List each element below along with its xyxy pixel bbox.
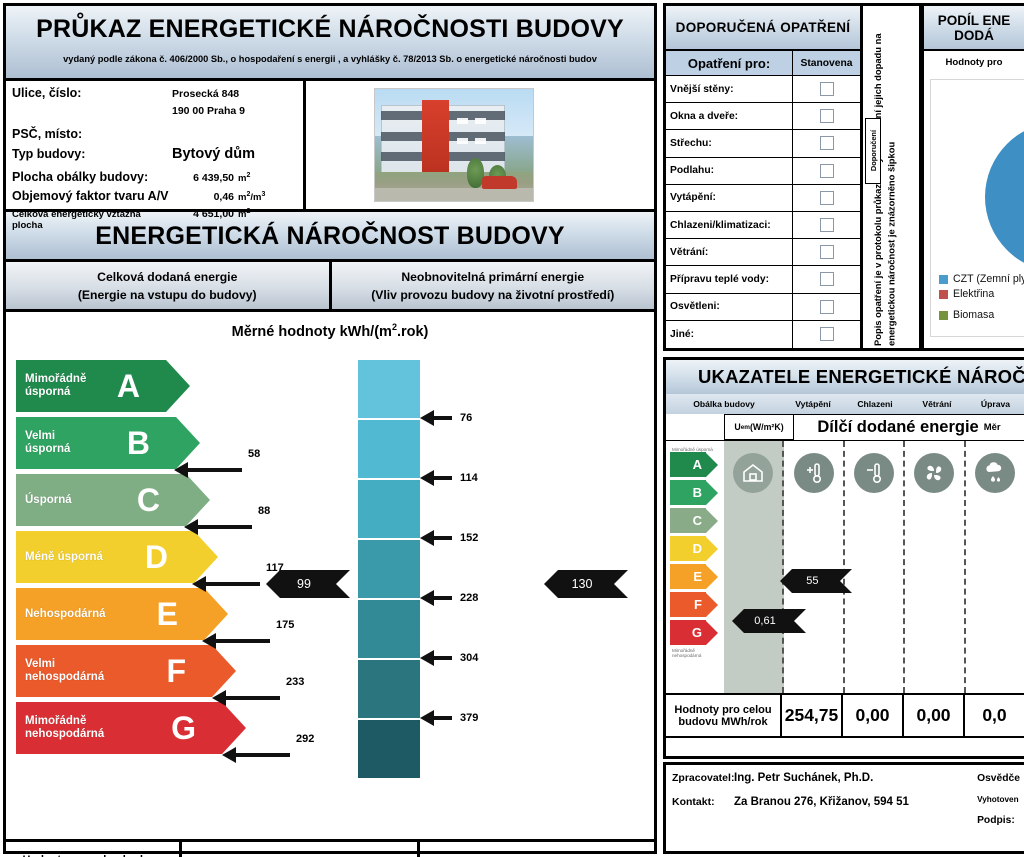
- primary-energy-value: 130: [572, 577, 593, 591]
- legend-item: Biomasa: [939, 308, 1024, 322]
- primary-energy-result-flag: 130: [544, 570, 628, 598]
- label-street: Ulice, číslo:: [12, 86, 172, 100]
- measure-label: Vytápění:: [666, 185, 793, 211]
- indicator-total-ventilation: 0,0: [965, 695, 1024, 736]
- mini-grade-g: G: [670, 620, 706, 645]
- class-grade-g: G: [171, 712, 196, 744]
- indicator-header-ventilation: Větrání: [906, 399, 968, 409]
- units-label-base: Měrné hodnoty kWh/(m: [232, 324, 392, 340]
- primary-energy-title: Neobnovitelná primární energie: [332, 270, 655, 284]
- delivered-energy-header: Celková dodaná energie (Energie na vstup…: [6, 262, 332, 309]
- threshold-tick: 76: [420, 410, 472, 426]
- thermometer-minus-icon: [854, 453, 894, 493]
- info-row-reference-area: Celková energeticky vztažná plocha 4 651…: [12, 208, 303, 227]
- threshold-value: 114: [460, 472, 478, 484]
- indicators-totals-label-line1: Hodnoty pro celou: [674, 704, 771, 716]
- mini-grade-a: A: [670, 452, 706, 477]
- indicator-total-envelope: 254,75: [782, 695, 843, 736]
- building-photo-cell: [306, 81, 654, 209]
- footer-processor-row: Zpracovatel: Ing. Petr Suchánek, Ph.D.: [666, 765, 1024, 784]
- gradient-segment: [358, 420, 420, 480]
- threshold-value: 228: [460, 592, 478, 604]
- mini-class-row: C: [670, 508, 720, 533]
- energy-class-bands: Mimořádněúsporná A Velmiúsporná B: [16, 360, 226, 759]
- humidity-icon: [975, 453, 1015, 493]
- contact-label: Kontakt:: [672, 796, 734, 808]
- unit-reference-area: m2: [238, 208, 250, 220]
- measure-label: Přípravu teplé vody:: [666, 266, 793, 292]
- indicator-column-ventilation: [905, 441, 965, 693]
- measures-header-row: Opatření pro: Stanovena: [666, 51, 860, 76]
- heating-energy-value: 55: [792, 569, 840, 593]
- mini-grade-e: E: [670, 564, 706, 589]
- share-chart-title: PODÍL ENE DODÁ: [924, 6, 1024, 51]
- mini-class-row: A: [670, 452, 720, 477]
- threshold-value: 152: [460, 532, 478, 544]
- energy-class-row: Nehospodárná E: [16, 588, 226, 640]
- partial-energies-header: Dílčí dodané energie Měr: [794, 414, 1024, 440]
- info-row-street: Ulice, číslo: Prosecká 848: [12, 86, 303, 105]
- primary-energy-ticks: 76 114 152 228: [420, 360, 550, 778]
- measure-label: Okna a dveře:: [666, 103, 793, 129]
- measure-checkbox-cell[interactable]: [793, 103, 860, 129]
- threshold-value: 292: [296, 733, 314, 745]
- mini-class-row: F: [670, 592, 720, 617]
- measure-label: Větrání:: [666, 239, 793, 265]
- threshold-value: 379: [460, 712, 478, 724]
- footer-contact-row: Kontakt: Za Branou 276, Křižanov, 594 51: [666, 784, 1024, 808]
- class-label-c: Úsporná: [25, 494, 72, 507]
- right-panel: DOPORUČENÁ OPATŘENÍ Opatření pro: Stanov…: [663, 0, 1024, 857]
- info-row-av-factor: Objemový faktor tvaru A/V 0,46 m2/m3: [12, 189, 303, 208]
- energy-indicators-panel: UKAZATELE ENERGETICKÉ NÁROČ Obálka budov…: [663, 357, 1024, 759]
- total-primary-energy: 605,632: [420, 842, 655, 857]
- label-reference-area: Celková energeticky vztažná plocha: [12, 209, 172, 231]
- measure-row: Vytápění:: [666, 185, 860, 212]
- units-label-tail: .rok): [397, 324, 428, 340]
- class-label-d: Méně úsporná: [25, 551, 103, 564]
- total-delivered-energy: 459,627: [182, 842, 420, 857]
- mini-scale-bottom-caption: Mimořádně nehospodárná: [670, 648, 720, 658]
- units-label: Měrné hodnoty kWh/(m2.rok): [6, 312, 654, 340]
- measure-label: Podlahu:: [666, 158, 793, 184]
- measure-checkbox[interactable]: [820, 164, 834, 178]
- measure-label: Osvětleni:: [666, 294, 793, 320]
- indicators-totals-label: Hodnoty pro celou budovu MWh/rok: [666, 695, 782, 736]
- measure-label: Střechu:: [666, 130, 793, 156]
- indicators-column-headers: Obálka budovy Vytápění Chlazeni Větrání …: [666, 394, 1024, 414]
- energy-class-row: Velminehospodárná F: [16, 645, 226, 697]
- delivered-energy-result-flag: 99: [266, 570, 350, 598]
- unit-av-factor: m2/m3: [238, 191, 265, 203]
- measure-label: Vnější stěny:: [666, 76, 793, 102]
- heating-value-flag: 55: [780, 569, 852, 593]
- measure-row: Střechu:: [666, 130, 860, 157]
- measure-checkbox-cell[interactable]: [793, 321, 860, 348]
- threshold-tick: 292: [222, 747, 290, 763]
- measure-row: Vnější stěny:: [666, 76, 860, 103]
- totals-label: Hodnoty pro celou budovu MWh/rok: [6, 842, 182, 857]
- signature-label: Podpis:: [977, 815, 1020, 826]
- measures-col-label: Opatření pro:: [666, 51, 793, 75]
- measure-checkbox[interactable]: [820, 136, 834, 150]
- unit-envelope-area: m2: [238, 172, 250, 184]
- threshold-tick: 233: [212, 690, 280, 706]
- delivered-energy-title: Celková dodaná energie: [6, 270, 329, 284]
- legend-swatch-biomasa: [939, 311, 948, 320]
- measure-row: Okna a dveře:: [666, 103, 860, 130]
- class-grade-b: B: [127, 427, 150, 459]
- info-row-postcode: PSČ, místo:: [12, 127, 303, 146]
- uem-sub: em: [741, 424, 750, 431]
- mini-class-row: B: [670, 480, 720, 505]
- uem-tail: (W/m²K): [750, 422, 784, 432]
- threshold-value: 304: [460, 652, 478, 664]
- threshold-tick: 304: [420, 650, 478, 666]
- recommendation-tag-label: Doporučení: [869, 130, 878, 171]
- indicator-column-heating: 55: [784, 441, 844, 693]
- measure-row: Jiné:: [666, 321, 860, 348]
- contact-value: Za Branou 276, Křižanov, 594 51: [734, 796, 909, 808]
- share-chart-title-line2: DODÁ: [954, 28, 994, 43]
- legend-swatch-czt: [939, 275, 948, 284]
- class-grade-c: C: [137, 484, 160, 516]
- recommendation-tag: Doporučení: [865, 118, 881, 184]
- measure-row: Větrání:: [666, 239, 860, 266]
- measure-checkbox[interactable]: [820, 191, 834, 205]
- class-label-g: Mimořádněnehospodárná: [25, 715, 104, 741]
- measure-checkbox[interactable]: [820, 109, 834, 123]
- indicators-totals-label-line2: budovu MWh/rok: [678, 716, 767, 728]
- gradient-segment: [358, 600, 420, 660]
- measures-title: DOPORUČENÁ OPATŘENÍ: [666, 6, 860, 51]
- measure-checkbox-cell[interactable]: [793, 185, 860, 211]
- measure-label: Chlazeni/klimatizaci:: [666, 212, 793, 238]
- gradient-segment: [358, 660, 420, 720]
- energy-scale-chart: Měrné hodnoty kWh/(m2.rok) Mimořádněúspo…: [6, 312, 654, 842]
- measure-checkbox-cell[interactable]: [793, 266, 860, 292]
- page-title: PRŮKAZ ENERGETICKÉ NÁROČNOSTI BUDOVY: [6, 6, 654, 48]
- measure-row: Přípravu teplé vody:: [666, 266, 860, 293]
- processor-label: Zpracovatel:: [672, 772, 734, 784]
- gradient-segment: [358, 540, 420, 600]
- value-reference-area: 4 651,00: [172, 208, 234, 220]
- energy-class-row: Mimořádněúsporná A: [16, 360, 226, 412]
- indicator-total-heating: 0,00: [843, 695, 904, 736]
- class-grade-d: D: [145, 541, 168, 573]
- measure-checkbox-cell[interactable]: [793, 239, 860, 265]
- info-row-city-value: 190 00 Praha 9: [12, 105, 303, 127]
- gradient-segment: [358, 720, 420, 778]
- indicator-header-envelope: Obálka budovy: [666, 399, 782, 409]
- share-chart-title-line1: PODÍL ENE: [938, 13, 1011, 28]
- energy-share-chart-panel: PODÍL ENE DODÁ Hodnoty pro CZT (Zemní pl…: [921, 3, 1024, 351]
- info-row-type: Typ budovy: Bytový dům: [12, 146, 303, 170]
- fan-icon: [914, 453, 954, 493]
- measure-row: Podlahu:: [666, 158, 860, 185]
- indicator-column-cooling: [845, 441, 905, 693]
- indicator-column-treatment: [966, 441, 1024, 693]
- threshold-value: 233: [286, 676, 304, 688]
- measure-checkbox[interactable]: [820, 300, 834, 314]
- delivered-energy-subtitle: (Energie na vstupu do budovy): [6, 288, 329, 302]
- legend-item: Elektřina: [939, 287, 1024, 301]
- indicator-header-cooling: Chlazeni: [844, 399, 906, 409]
- certificate-header: PRŮKAZ ENERGETICKÉ NÁROČNOSTI BUDOVY vyd…: [6, 6, 654, 81]
- share-chart-legend: CZT (Zemní plyn) Elektřina Biomasa: [939, 272, 1024, 323]
- measure-row: Osvětleni:: [666, 294, 860, 321]
- building-info-table: Ulice, číslo: Prosecká 848 190 00 Praha …: [6, 81, 654, 212]
- footer-right-column: Osvědče Vyhotoven Podpis:: [977, 773, 1020, 826]
- energy-certificate-page: PRŮKAZ ENERGETICKÉ NÁROČNOSTI BUDOVY vyd…: [0, 0, 1024, 857]
- label-building-type: Typ budovy:: [12, 147, 172, 161]
- class-grade-f: F: [166, 655, 186, 687]
- building-info-fields: Ulice, číslo: Prosecká 848 190 00 Praha …: [6, 81, 306, 209]
- mini-energy-scale: Mimořádně úsporná A B C D: [666, 441, 724, 693]
- measure-checkbox-cell[interactable]: [793, 212, 860, 238]
- class-label-a: Mimořádněúsporná: [25, 373, 86, 399]
- primary-energy-header: Neobnovitelná primární energie (Vliv pro…: [332, 262, 655, 309]
- legend-swatch-elektrina: [939, 290, 948, 299]
- gradient-segment: [358, 360, 420, 420]
- measure-checkbox[interactable]: [820, 245, 834, 259]
- indicators-title: UKAZATELE ENERGETICKÉ NÁROČ: [666, 360, 1024, 394]
- indicator-total-cooling: 0,00: [904, 695, 965, 736]
- partial-energies-tail: Měr: [984, 422, 1001, 433]
- certificate-label: Osvědče: [977, 773, 1020, 784]
- threshold-tick: 58: [174, 462, 242, 478]
- issued-label: Vyhotoven: [977, 795, 1020, 804]
- partial-energies-title: Dílčí dodané energie: [817, 418, 978, 437]
- indicators-subheader: Uem (W/m²K) Dílčí dodané energie Měr: [666, 414, 1024, 441]
- measures-note-strip: Popis opatření je v protokolu průkazu a …: [863, 3, 921, 351]
- measure-checkbox-cell[interactable]: [793, 76, 860, 102]
- class-grade-e: E: [157, 598, 178, 630]
- mini-grade-b: B: [670, 480, 706, 505]
- mini-grade-f: F: [670, 592, 706, 617]
- value-street: Prosecká 848: [172, 88, 239, 100]
- threshold-value: 76: [460, 412, 472, 424]
- legend-label-elektrina: Elektřina: [953, 287, 994, 301]
- measure-row: Chlazeni/klimatizaci:: [666, 212, 860, 239]
- threshold-tick: 228: [420, 590, 478, 606]
- share-chart-card: CZT (Zemní plyn) Elektřina Biomasa: [930, 79, 1024, 337]
- measure-label: Jiné:: [666, 321, 793, 348]
- building-photo: [374, 88, 534, 202]
- mini-grade-c: C: [670, 508, 706, 533]
- measure-checkbox[interactable]: [820, 272, 834, 286]
- measure-checkbox[interactable]: [820, 82, 834, 96]
- indicator-header-heating: Vytápění: [782, 399, 844, 409]
- left-panel: PRŮKAZ ENERGETICKÉ NÁROČNOSTI BUDOVY vyd…: [0, 0, 660, 857]
- label-av-factor: Objemový faktor tvaru A/V: [12, 189, 172, 203]
- legend-item: CZT (Zemní plyn): [939, 272, 1024, 286]
- indicators-grid: Mimořádně úsporná A B C D: [666, 441, 1024, 693]
- certificate-footer: Zpracovatel: Ing. Petr Suchánek, Ph.D. K…: [663, 762, 1024, 854]
- recommended-measures-table: DOPORUČENÁ OPATŘENÍ Opatření pro: Stanov…: [663, 3, 863, 351]
- legend-label-biomasa: Biomasa: [953, 308, 994, 322]
- page-subtitle: vydaný podle zákona č. 406/2000 Sb., o h…: [6, 48, 654, 73]
- measure-checkbox[interactable]: [820, 327, 834, 341]
- label-postcode: PSČ, místo:: [12, 127, 172, 141]
- value-envelope-area: 6 439,50: [172, 172, 234, 184]
- delivered-energy-value: 99: [297, 577, 311, 591]
- building-totals-row: Hodnoty pro celou budovu MWh/rok 459,627…: [6, 842, 654, 857]
- threshold-value: 88: [258, 505, 270, 517]
- processor-value: Ing. Petr Suchánek, Ph.D.: [734, 772, 873, 784]
- threshold-value: 58: [248, 448, 260, 460]
- primary-energy-gradient-bar: [358, 360, 420, 778]
- measure-checkbox-cell[interactable]: [793, 130, 860, 156]
- threshold-value: 175: [276, 619, 294, 631]
- threshold-tick: 175: [202, 633, 270, 649]
- scale-column-headers: Celková dodaná energie (Energie na vstup…: [6, 262, 654, 312]
- gradient-segment: [358, 480, 420, 540]
- class-label-b: Velmiúsporná: [25, 430, 70, 456]
- mini-grade-d: D: [670, 536, 706, 561]
- threshold-tick: 117: [192, 576, 260, 592]
- label-envelope-area: Plocha obálky budovy:: [12, 170, 172, 184]
- value-av-factor: 0,46: [172, 191, 234, 203]
- measure-checkbox-cell[interactable]: [793, 294, 860, 320]
- pie-slice-czt: [985, 122, 1024, 272]
- measures-col-status: Stanovena: [793, 51, 860, 75]
- uem-indicator-box: Uem (W/m²K): [724, 414, 794, 440]
- indicators-totals-row: Hodnoty pro celou budovu MWh/rok 254,75 …: [666, 693, 1024, 738]
- measure-checkbox-cell[interactable]: [793, 158, 860, 184]
- indicator-column-envelope: 0,61: [724, 441, 784, 693]
- thermometer-plus-icon: [794, 453, 834, 493]
- info-row-envelope-area: Plocha obálky budovy: 6 439,50 m2: [12, 170, 303, 189]
- measure-checkbox[interactable]: [820, 218, 834, 232]
- threshold-tick: 114: [420, 470, 478, 486]
- mini-class-row: G: [670, 620, 720, 645]
- threshold-tick: 152: [420, 530, 478, 546]
- value-building-type: Bytový dům: [172, 146, 255, 162]
- class-grade-a: A: [117, 370, 140, 402]
- primary-energy-subtitle: (Vliv provozu budovy na životní prostřed…: [332, 288, 655, 302]
- mini-class-row: D: [670, 536, 720, 561]
- share-chart-subtitle: Hodnoty pro: [924, 51, 1024, 70]
- threshold-tick: 379: [420, 710, 478, 726]
- value-postcode-city: 190 00 Praha 9: [172, 105, 245, 117]
- class-label-f: Velminehospodárná: [25, 658, 104, 684]
- mini-class-row: E: [670, 564, 720, 589]
- legend-label-czt: CZT (Zemní plyn): [953, 272, 1024, 286]
- threshold-tick: 88: [184, 519, 252, 535]
- house-icon: [733, 453, 773, 493]
- indicator-header-treatment: Úprava: [968, 399, 1023, 409]
- energy-class-row: Mimořádněnehospodárná G: [16, 702, 226, 754]
- class-label-e: Nehospodárná: [25, 608, 106, 621]
